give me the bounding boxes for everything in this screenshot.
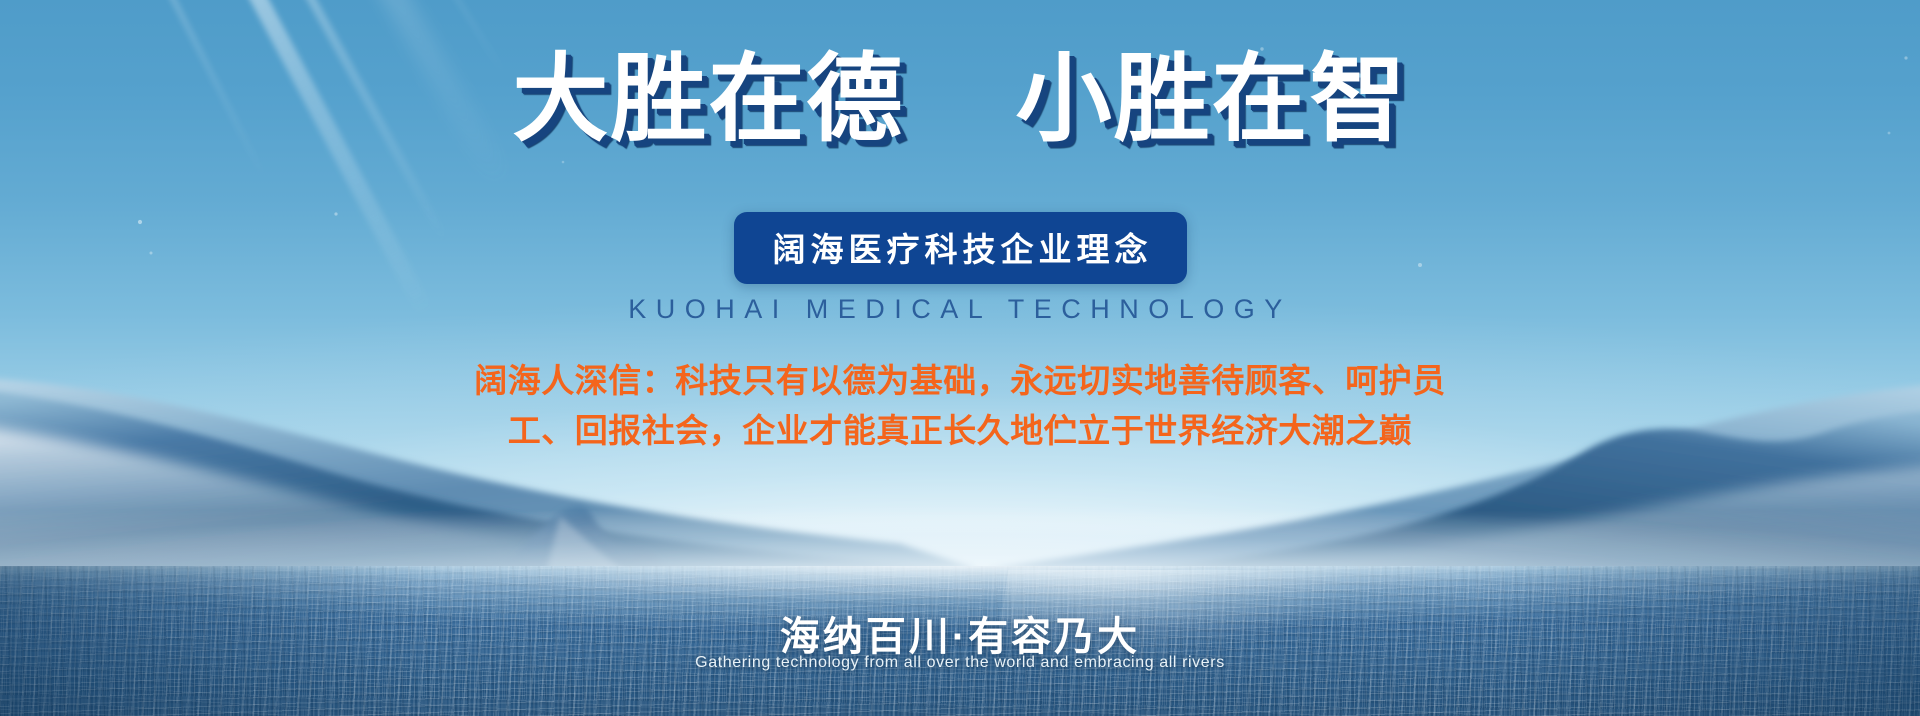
philosophy-line-2: 工、回报社会，企业才能真正长久地伫立于世界经济大潮之巅 [0, 406, 1920, 456]
headline-part-one: 大胜在德 [512, 46, 904, 153]
philosophy-statement: 阔海人深信：科技只有以德为基础，永远切实地善待顾客、呵护员 工、回报社会，企业才… [0, 356, 1920, 456]
badge-container: 阔海医疗科技企业理念 [0, 212, 1920, 284]
page-title: 大胜在德 小胜在智 [0, 52, 1920, 148]
footer-slogan-en: Gathering technology from all over the w… [0, 654, 1920, 672]
headline-part-two: 小胜在智 [1016, 46, 1408, 153]
company-english-name: KUOHAI MEDICAL TECHNOLOGY [0, 294, 1920, 325]
philosophy-line-1: 阔海人深信：科技只有以德为基础，永远切实地善待顾客、呵护员 [0, 356, 1920, 406]
banner-content: 大胜在德 小胜在智 阔海医疗科技企业理念 KUOHAI MEDICAL TECH… [0, 0, 1920, 716]
hero-banner: 大胜在德 小胜在智 阔海医疗科技企业理念 KUOHAI MEDICAL TECH… [0, 0, 1920, 716]
status-badge: 阔海医疗科技企业理念 [734, 212, 1187, 284]
